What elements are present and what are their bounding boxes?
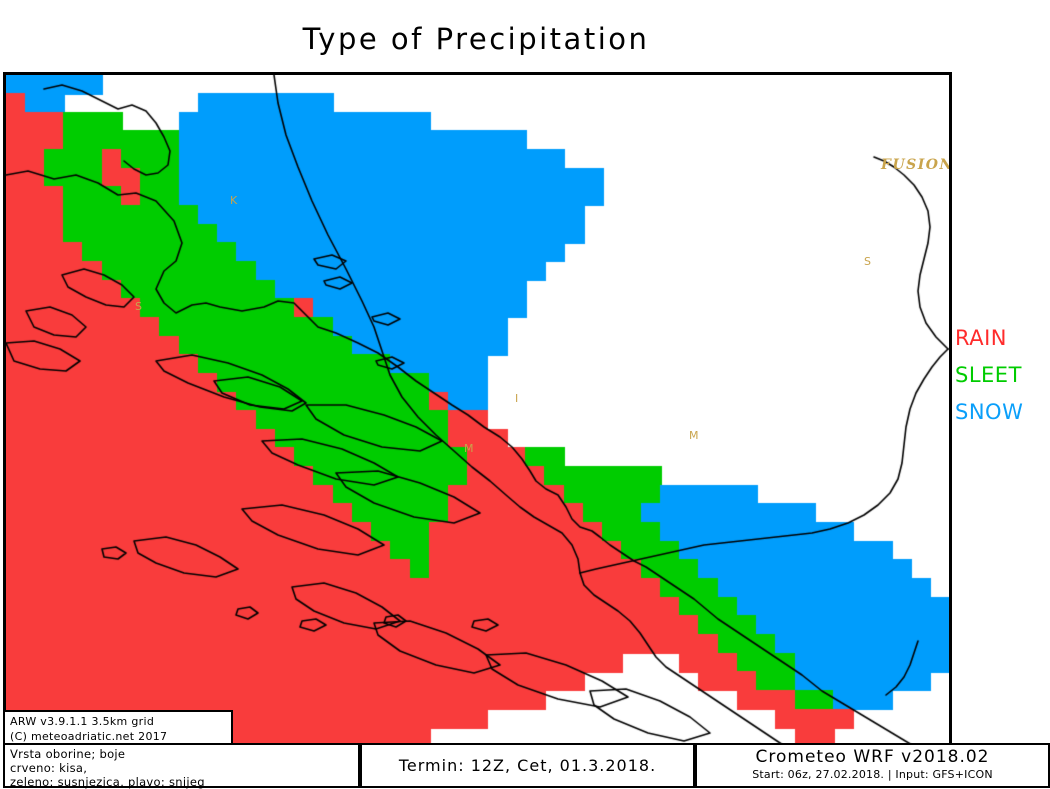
city-label-s-2: S xyxy=(864,256,871,267)
description-box: Vrsta oborine; boje crveno: kisa, zeleno… xyxy=(3,743,360,788)
model-version-line: ARW v3.9.1.1 3.5km grid xyxy=(10,714,226,729)
model-copyright-line: (C) meteoadriatic.net 2017 xyxy=(10,729,226,744)
forecast-time-box: Termin: 12Z, Cet, 01.3.2018. xyxy=(360,743,695,788)
legend-item-rain: RAIN xyxy=(955,320,1050,357)
page-title: Type of Precipitation xyxy=(0,22,952,56)
brand-info-box: Crometeo WRF v2018.02 Start: 06z, 27.02.… xyxy=(695,743,1050,788)
city-label-m-5: M xyxy=(689,430,699,441)
description-line-1: Vrsta oborine; boje xyxy=(10,747,353,761)
city-label-i-3: I xyxy=(515,393,518,404)
precipitation-legend: RAIN SLEET SNOW xyxy=(955,320,1050,431)
description-line-2: crveno: kisa, xyxy=(10,761,353,775)
brand-subtitle: Start: 06z, 27.02.2018. | Input: GFS+ICO… xyxy=(697,768,1048,782)
city-label-s-1: S xyxy=(135,301,142,312)
city-label-m-4: M xyxy=(464,443,474,454)
city-label-k-0: K xyxy=(230,195,237,206)
description-line-3: zeleno: susnjezica, plavo: snijeg xyxy=(10,775,353,789)
forecast-time-text: Termin: 12Z, Cet, 01.3.2018. xyxy=(399,756,656,775)
precipitation-raster-canvas xyxy=(6,75,949,765)
fusion-watermark: FUSION xyxy=(881,157,952,173)
legend-item-sleet: SLEET xyxy=(955,357,1050,394)
model-info-box: ARW v3.9.1.1 3.5km grid (C) meteoadriati… xyxy=(3,710,233,745)
precipitation-map-panel[interactable]: FUSION KSSIMM xyxy=(3,72,952,768)
legend-item-snow: SNOW xyxy=(955,394,1050,431)
brand-title: Crometeo WRF v2018.02 xyxy=(697,747,1048,768)
